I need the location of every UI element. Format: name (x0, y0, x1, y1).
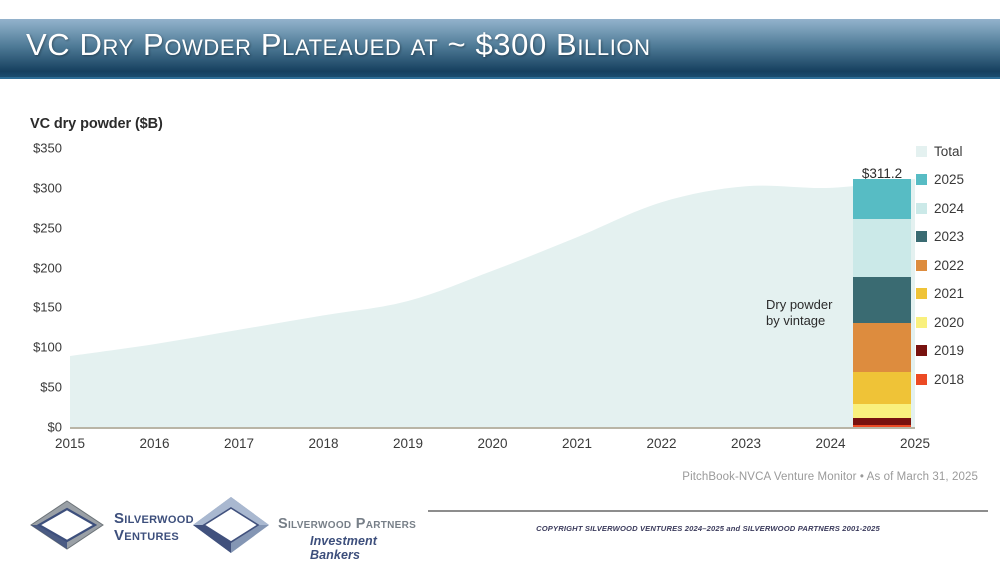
bar-segment-2021[interactable] (853, 372, 911, 404)
bar-segment-2018[interactable] (853, 425, 911, 427)
y-axis-tick: $50 (4, 380, 62, 395)
legend-item-label: 2018 (934, 372, 964, 387)
bar-segment-2022[interactable] (853, 323, 911, 372)
bar-segment-2025[interactable] (853, 179, 911, 219)
x-axis-line (70, 427, 915, 429)
legend-swatch-icon (916, 174, 927, 185)
legend-swatch-icon (916, 374, 927, 385)
chart-legend: Total20252024202320222021202020192018 (916, 144, 1000, 444)
legend-item-2021[interactable]: 2021 (916, 287, 964, 301)
page-title: VC Dry Powder Plateaued at ~ $300 Billio… (26, 27, 651, 63)
x-axis-tick: 2021 (562, 436, 592, 451)
annotation-line-2: by vintage (766, 313, 832, 329)
x-axis-tick: 2024 (815, 436, 845, 451)
silverwood-partners-logo: Silverwood Partners Investment Bankers (190, 494, 420, 556)
legend-swatch-icon (916, 146, 927, 157)
legend-item-label: 2024 (934, 201, 964, 216)
legend-swatch-icon (916, 231, 927, 242)
x-axis-tick: 2019 (393, 436, 423, 451)
legend-swatch-icon (916, 260, 927, 271)
partners-logo-line-1: Silverwood Partners (278, 516, 416, 532)
slide-title-bar: VC Dry Powder Plateaued at ~ $300 Billio… (0, 19, 1000, 79)
legend-item-label: 2021 (934, 286, 964, 301)
chart-source-note: PitchBook-NVCA Venture Monitor • As of M… (0, 471, 978, 483)
legend-item-label: Total (934, 144, 963, 159)
legend-item-2022[interactable]: 2022 (916, 258, 964, 272)
y-axis-tick: $350 (4, 141, 62, 156)
annotation-line-1: Dry powder (766, 297, 832, 313)
x-axis-tick: 2023 (731, 436, 761, 451)
legend-item-2024[interactable]: 2024 (916, 201, 964, 215)
legend-item-label: 2022 (934, 258, 964, 273)
legend-swatch-icon (916, 203, 927, 214)
y-axis-tick: $0 (4, 420, 62, 435)
y-axis-tick: $100 (4, 340, 62, 355)
y-axis-tick: $200 (4, 260, 62, 275)
x-axis-tick: 2016 (139, 436, 169, 451)
legend-item-2018[interactable]: 2018 (916, 372, 964, 386)
copyright-text: COPYRIGHT SILVERWOOD VENTURES 2024–2025 … (428, 524, 988, 533)
x-axis-tick-labels: 2015201620172018201920202021202220232024… (70, 436, 915, 458)
bar-segment-2023[interactable] (853, 277, 911, 322)
legend-item-label: 2025 (934, 172, 964, 187)
bar-segment-2024[interactable] (853, 219, 911, 277)
area-series-total (70, 148, 915, 427)
partners-logo-line-2: Investment Bankers (310, 534, 420, 562)
legend-item-label: 2023 (934, 229, 964, 244)
legend-item-2019[interactable]: 2019 (916, 344, 964, 358)
y-axis-title: VC dry powder ($B) (30, 116, 163, 132)
silverwood-ventures-logo: Silverwood Ventures (28, 498, 188, 554)
x-axis-tick: 2018 (308, 436, 338, 451)
y-axis-tick-labels: $0$50$100$150$200$250$300$350 (0, 148, 62, 427)
legend-item-label: 2020 (934, 315, 964, 330)
bar-segment-2020[interactable] (853, 404, 911, 418)
diamond-icon (28, 498, 106, 552)
legend-swatch-icon (916, 288, 927, 299)
stacked-bar-2025[interactable] (853, 179, 911, 427)
legend-item-2023[interactable]: 2023 (916, 230, 964, 244)
chart-container: VC dry powder ($B) $0$50$100$150$200$250… (0, 86, 1000, 476)
legend-swatch-icon (916, 345, 927, 356)
legend-item-total[interactable]: Total (916, 144, 963, 158)
y-axis-tick: $250 (4, 220, 62, 235)
legend-item-2025[interactable]: 2025 (916, 173, 964, 187)
y-axis-tick: $150 (4, 300, 62, 315)
legend-item-label: 2019 (934, 343, 964, 358)
plot-area (70, 148, 915, 427)
legend-item-2020[interactable]: 2020 (916, 315, 964, 329)
x-axis-tick: 2017 (224, 436, 254, 451)
ventures-logo-line-2: Ventures (114, 527, 179, 544)
clipped-subtitle (100, 84, 600, 94)
x-axis-tick: 2015 (55, 436, 85, 451)
slide-footer: Silverwood Ventures Silverwood Partners … (0, 488, 1000, 560)
stacked-bar-annotation: Dry powder by vintage (766, 297, 832, 329)
y-axis-tick: $300 (4, 180, 62, 195)
ventures-logo-line-1: Silverwood (114, 510, 194, 527)
x-axis-tick: 2022 (646, 436, 676, 451)
x-axis-tick: 2020 (477, 436, 507, 451)
diamond-icon (190, 494, 272, 556)
footer-divider (428, 510, 988, 512)
legend-swatch-icon (916, 317, 927, 328)
